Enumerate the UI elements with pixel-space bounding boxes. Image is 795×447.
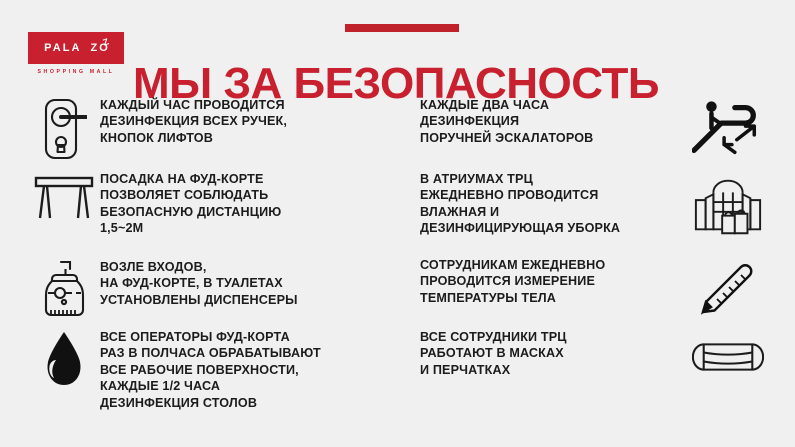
brand-logo: PALAZZO Z SHOPPING MALL — [28, 32, 124, 75]
text-line: ПОЗВОЛЯЕТ СОБЛЮДАТЬ — [100, 187, 281, 203]
face-mask-icon — [692, 328, 764, 384]
text-line: СОТРУДНИКАМ ЕЖЕДНЕВНО — [420, 257, 692, 273]
text-line: ВЛАЖНАЯ И — [420, 204, 692, 220]
safety-item-masks-gloves: ВСЕ СОТРУДНИКИ ТРЦ РАБОТАЮТ В МАСКАХ И П… — [420, 328, 764, 384]
safety-item-text: СОТРУДНИКАМ ЕЖЕДНЕВНО ПРОВОДИТСЯ ИЗМЕРЕН… — [420, 256, 692, 306]
text-line: ВОЗЛЕ ВХОДОВ, — [100, 259, 298, 275]
soap-dispenser-icon — [28, 258, 100, 318]
text-line: КНОПОК ЛИФТОВ — [100, 130, 287, 146]
text-line: ДЕЗИНФЕКЦИЯ ВСЕХ РУЧЕК, — [100, 113, 287, 129]
safety-item-text: ВОЗЛЕ ВХОДОВ, НА ФУД-КОРТЕ, В ТУАЛЕТАХ У… — [100, 258, 298, 308]
text-line: УСТАНОВЛЕНЫ ДИСПЕНСЕРЫ — [100, 292, 298, 308]
safety-item-dispensers: ВОЗЛЕ ВХОДОВ, НА ФУД-КОРТЕ, В ТУАЛЕТАХ У… — [28, 258, 298, 318]
text-line: ДЕЗИНФЕКЦИЯ СТОЛОВ — [100, 395, 321, 411]
safety-item-door-handles: КАЖДЫЙ ЧАС ПРОВОДИТСЯ ДЕЗИНФЕКЦИЯ ВСЕХ Р… — [28, 96, 287, 160]
safety-item-food-court-seating: ПОСАДКА НА ФУД-КОРТЕ ПОЗВОЛЯЕТ СОБЛЮДАТЬ… — [28, 170, 281, 237]
logo-wordmark: PALAZZO — [42, 43, 110, 54]
text-line: ВСЕ СОТРУДНИКИ ТРЦ — [420, 329, 692, 345]
table-icon — [28, 170, 100, 222]
text-line: РАЗ В ПОЛЧАСА ОБРАБАТЫВАЮТ — [100, 345, 321, 361]
logo-tagline: SHOPPING MALL — [28, 69, 124, 75]
mall-atrium-icon — [692, 170, 764, 238]
text-line: ДЕЗИНФЕКЦИЯ — [420, 113, 692, 129]
safety-item-text: В АТРИУМАХ ТРЦ ЕЖЕДНЕВНО ПРОВОДИТСЯ ВЛАЖ… — [420, 170, 692, 237]
text-line: ПРОВОДИТСЯ ИЗМЕРЕНИЕ — [420, 273, 692, 289]
text-line: ВСЕ РАБОЧИЕ ПОВЕРХНОСТИ, — [100, 362, 321, 378]
logo-badge: PALAZZO Z — [28, 32, 124, 64]
safety-item-text: ПОСАДКА НА ФУД-КОРТЕ ПОЗВОЛЯЕТ СОБЛЮДАТЬ… — [100, 170, 281, 237]
safety-item-atrium-cleaning: В АТРИУМАХ ТРЦ ЕЖЕДНЕВНО ПРОВОДИТСЯ ВЛАЖ… — [420, 170, 764, 238]
text-line: ТЕМПЕРАТУРЫ ТЕЛА — [420, 290, 692, 306]
title-rule — [345, 24, 459, 32]
text-line: ВСЕ ОПЕРАТОРЫ ФУД-КОРТА — [100, 329, 321, 345]
safety-item-temperature-check: СОТРУДНИКАМ ЕЖЕДНЕВНО ПРОВОДИТСЯ ИЗМЕРЕН… — [420, 256, 764, 320]
safety-item-text: КАЖДЫЙ ЧАС ПРОВОДИТСЯ ДЕЗИНФЕКЦИЯ ВСЕХ Р… — [100, 96, 287, 146]
text-line: ЕЖЕДНЕВНО ПРОВОДИТСЯ — [420, 187, 692, 203]
safety-item-text: КАЖДЫЕ ДВА ЧАСА ДЕЗИНФЕКЦИЯ ПОРУЧНЕЙ ЭСК… — [420, 96, 692, 146]
safety-item-text: ВСЕ СОТРУДНИКИ ТРЦ РАБОТАЮТ В МАСКАХ И П… — [420, 328, 692, 378]
safety-infographic-poster: PALAZZO Z SHOPPING MALL МЫ ЗА БЕЗОПАСНОС… — [0, 0, 795, 447]
text-line: В АТРИУМАХ ТРЦ — [420, 171, 692, 187]
text-line: И ПЕРЧАТКАХ — [420, 362, 692, 378]
safety-item-escalator-handrails: КАЖДЫЕ ДВА ЧАСА ДЕЗИНФЕКЦИЯ ПОРУЧНЕЙ ЭСК… — [420, 96, 764, 160]
text-line: ПОСАДКА НА ФУД-КОРТЕ — [100, 171, 281, 187]
safety-item-surface-cleaning: ВСЕ ОПЕРАТОРЫ ФУД-КОРТА РАЗ В ПОЛЧАСА ОБ… — [28, 328, 321, 411]
text-line: ПОРУЧНЕЙ ЭСКАЛАТОРОВ — [420, 130, 692, 146]
text-line: КАЖДЫЕ 1/2 ЧАСА — [100, 378, 321, 394]
text-line: 1,5~2М — [100, 220, 281, 236]
text-line: РАБОТАЮТ В МАСКАХ — [420, 345, 692, 361]
text-line: НА ФУД-КОРТЕ, В ТУАЛЕТАХ — [100, 275, 298, 291]
text-line: ДЕЗИНФИЦИРУЮЩАЯ УБОРКА — [420, 220, 692, 236]
text-line: БЕЗОПАСНУЮ ДИСТАНЦИЮ — [100, 204, 281, 220]
thermometer-icon — [692, 256, 764, 320]
water-drop-icon — [28, 328, 100, 388]
safety-item-text: ВСЕ ОПЕРАТОРЫ ФУД-КОРТА РАЗ В ПОЛЧАСА ОБ… — [100, 328, 321, 411]
escalator-icon — [692, 96, 764, 160]
door-handle-icon — [28, 96, 100, 160]
text-line: КАЖДЫЕ ДВА ЧАСА — [420, 97, 692, 113]
text-line: КАЖДЫЙ ЧАС ПРОВОДИТСЯ — [100, 97, 287, 113]
